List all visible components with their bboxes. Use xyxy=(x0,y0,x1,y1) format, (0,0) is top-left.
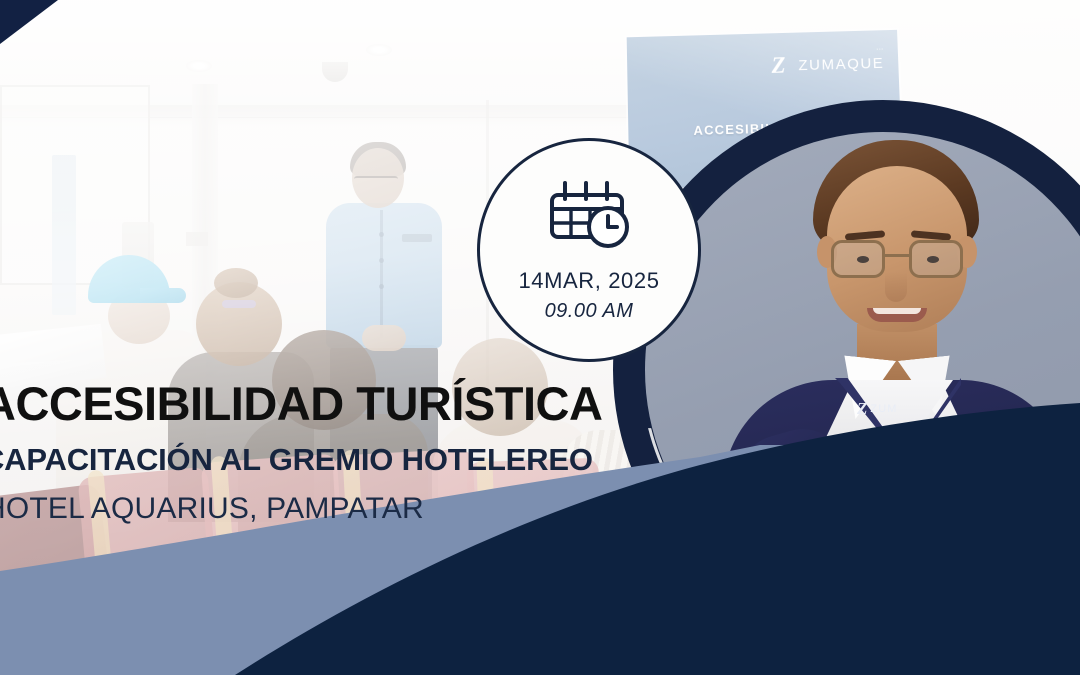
page-title: ACCESIBILIDAD TURÍSTICA xyxy=(0,376,682,431)
glasses-bridge xyxy=(885,254,909,257)
zumaque-z-mark xyxy=(771,54,794,76)
speaker-teeth xyxy=(873,308,921,314)
sweater-logo-text: ZUM xyxy=(870,403,897,415)
sweater-z-mark: Z xyxy=(857,400,867,417)
zumaque-tagline: ••• xyxy=(877,46,884,51)
zumaque-wordmark: ZUMAQUE xyxy=(798,54,884,73)
glasses-lens-right xyxy=(909,240,963,278)
badge-time-text: 09.00 AM xyxy=(545,300,634,323)
calendar-clock-icon xyxy=(546,177,632,254)
zumaque-logo: ZUMAQUE ••• xyxy=(771,52,884,77)
event-date-badge: 14MAR, 2025 09.00 AM xyxy=(477,138,701,362)
speaker-nose xyxy=(885,272,907,302)
glasses-lens-left xyxy=(831,240,885,278)
venue-text: HOTEL AQUARIUS, PAMPATAR xyxy=(0,492,684,526)
event-poster: ZUMAQUE ••• ACCESIBILIDAD TU Ver Ca Z ZU… xyxy=(0,0,1080,675)
page-subtitle: CAPACITACIÓN AL GREMIO HOTELEREO xyxy=(0,442,682,478)
calendar-clock-icon-svg xyxy=(546,177,632,249)
badge-date-text: 14MAR, 2025 xyxy=(518,268,659,294)
speaker-sweater-logo: Z ZUM xyxy=(857,400,898,417)
